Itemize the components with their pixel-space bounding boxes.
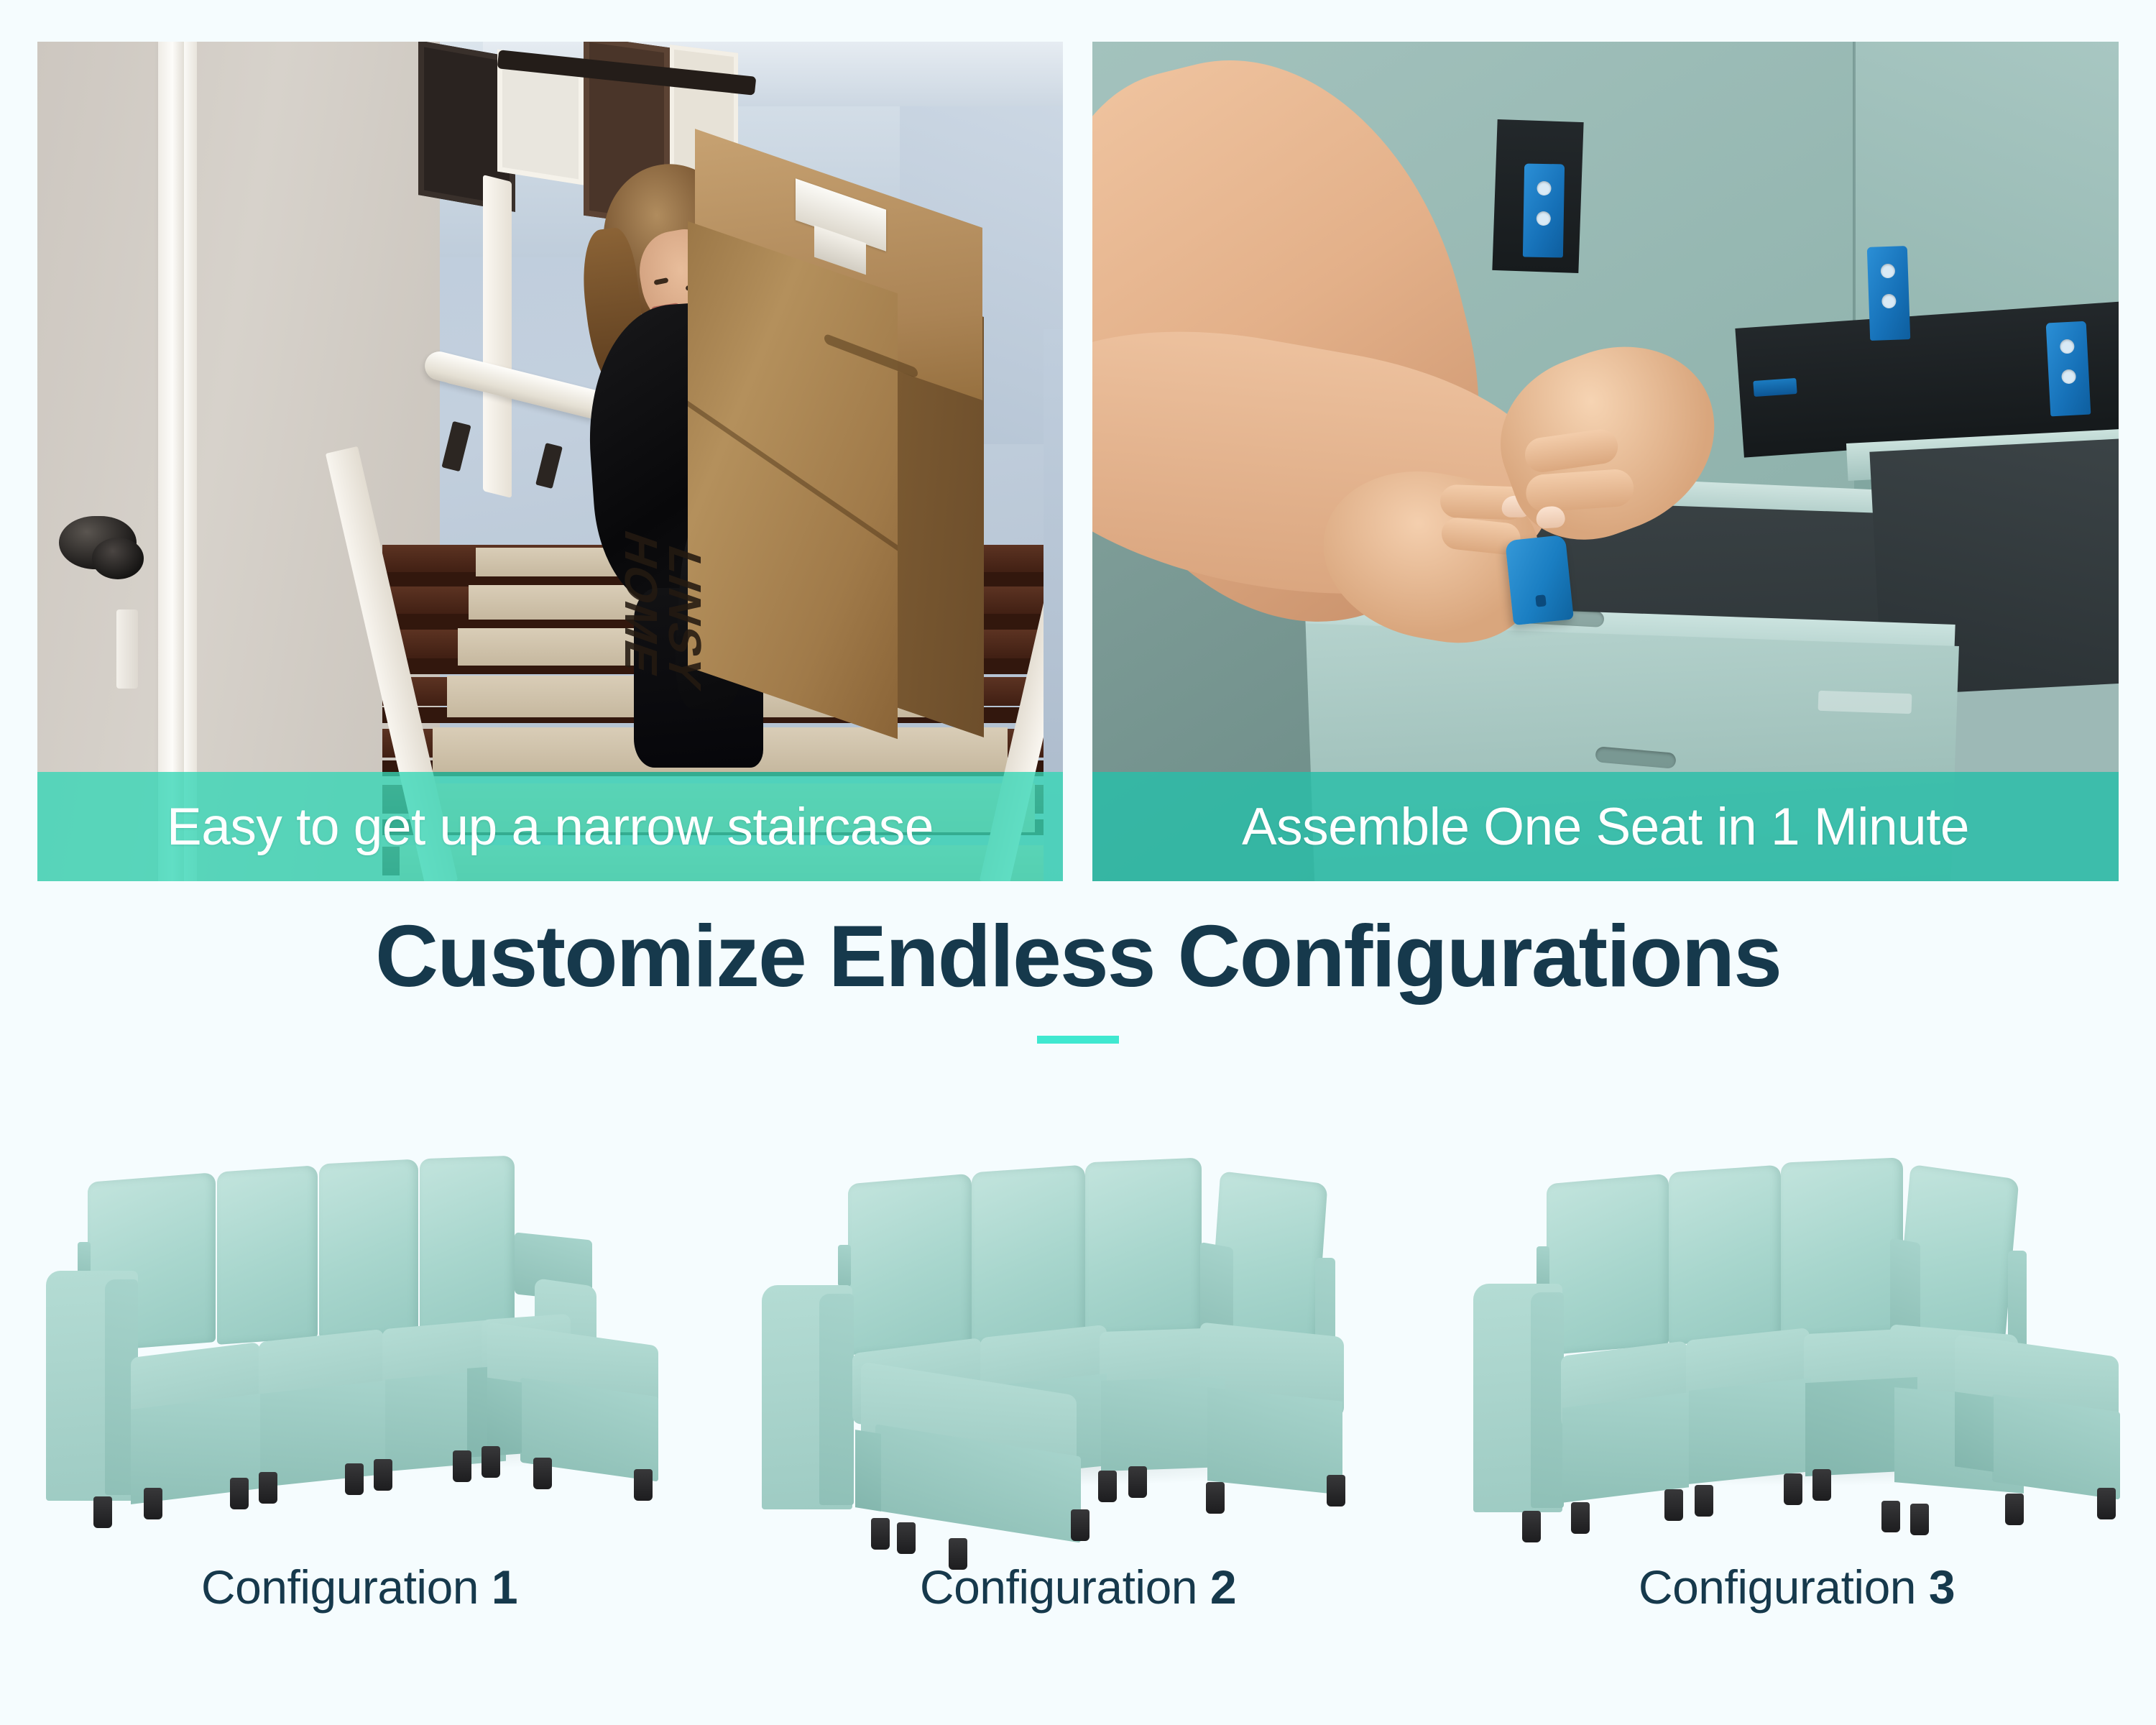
- door-edge: [158, 42, 184, 881]
- config-label-number: 3: [1929, 1560, 1955, 1614]
- config-label-number: 1: [492, 1560, 517, 1614]
- hallway-wall: [37, 42, 440, 881]
- feature-photo-row: LINSY HOME Easy to get up a narrow stair…: [0, 0, 2156, 880]
- configuration-label-2: Configuration 2: [920, 1560, 1236, 1614]
- page-title: Customize Endless Configurations: [0, 907, 2156, 1006]
- accent-divider: [1037, 1036, 1119, 1044]
- blue-bracket-2: [1523, 164, 1565, 258]
- blue-bracket-3: [1867, 246, 1911, 341]
- blue-bracket-foot: [1753, 378, 1797, 397]
- photo-narrow-staircase: LINSY HOME Easy to get up a narrow stair…: [37, 42, 1063, 881]
- brand-line-1: LINSY: [663, 540, 706, 696]
- door-latch: [116, 609, 138, 689]
- configuration-label-3: Configuration 3: [1639, 1560, 1955, 1614]
- blue-connector-clip: [1505, 535, 1574, 625]
- configuration-card-2[interactable]: Configuration 2: [719, 1150, 1437, 1696]
- box-brand-area: LINSY HOME: [714, 321, 886, 683]
- config-label-number: 2: [1210, 1560, 1236, 1614]
- blue-bracket-4: [2046, 321, 2091, 417]
- door-trim: [184, 42, 197, 881]
- staircase-scene: LINSY HOME: [37, 42, 1063, 881]
- shipping-box: LINSY HOME: [688, 178, 1061, 753]
- photo-one-minute-assembly: Assemble One Seat in 1 Minute: [1092, 42, 2119, 881]
- sofa-illustration-3: [1459, 1150, 2134, 1509]
- sofa-illustration-2: [740, 1150, 1416, 1509]
- door-knob-inner: [92, 538, 144, 579]
- photo-caption-band-left: Easy to get up a narrow staircase: [37, 772, 1063, 881]
- configuration-label-1: Configuration 1: [201, 1560, 517, 1614]
- box-brand-text: LINSY HOME: [618, 525, 706, 696]
- assembly-scene: [1092, 42, 2119, 881]
- configuration-card-1[interactable]: Configuration 1: [0, 1150, 719, 1696]
- configuration-gallery: Configuration 1: [0, 1150, 2156, 1696]
- caption-text-staircase: Easy to get up a narrow staircase: [167, 797, 934, 857]
- config-label-prefix: Configuration: [201, 1560, 479, 1614]
- section-header: Customize Endless Configurations: [0, 907, 2156, 1044]
- brand-line-2: HOME: [618, 525, 662, 681]
- coat-hook-board: [483, 175, 512, 498]
- photo-caption-band-right: Assemble One Seat in 1 Minute: [1092, 772, 2119, 881]
- caption-text-assembly: Assemble One Seat in 1 Minute: [1242, 797, 1969, 857]
- fabric-care-label: [1818, 691, 1912, 714]
- configuration-card-3[interactable]: Configuration 3: [1437, 1150, 2156, 1696]
- config-label-prefix: Configuration: [1639, 1560, 1916, 1614]
- sofa-illustration-1: [22, 1150, 697, 1509]
